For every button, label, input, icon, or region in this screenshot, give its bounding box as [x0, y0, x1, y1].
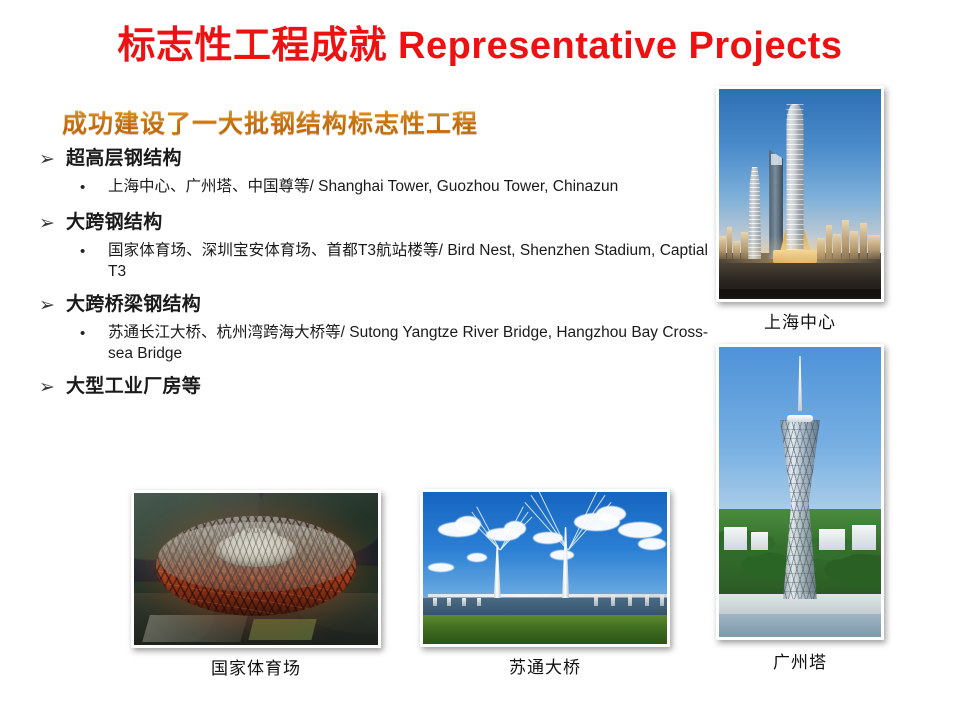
list-item-level2-label: 国家体育场、深圳宝安体育场、首都T3航站楼等/ Bird Nest, Shenz… — [108, 240, 708, 282]
birds-nest-stadium-photo — [131, 490, 381, 648]
canton-tower-photo — [716, 344, 884, 640]
arrow-bullet-icon: ➢ — [36, 292, 66, 318]
ground-glow — [719, 234, 881, 263]
stay-cables — [423, 492, 667, 597]
arrow-bullet-icon: ➢ — [36, 146, 66, 172]
bullet-list: ➢ 超高层钢结构 • 上海中心、广州塔、中国尊等/ Shanghai Tower… — [36, 146, 708, 403]
section-heading: 成功建设了一大批钢结构标志性工程 — [62, 104, 478, 140]
approach-pier — [594, 595, 598, 606]
tower-crown — [787, 415, 813, 422]
list-item-level1: ➢ 超高层钢结构 — [36, 146, 708, 172]
list-item-level2-label: 上海中心、广州塔、中国尊等/ Shanghai Tower, Guozhou T… — [108, 176, 708, 197]
approach-pier — [611, 595, 615, 606]
arrow-bullet-icon: ➢ — [36, 374, 66, 400]
list-item-level1-label: 超高层钢结构 — [66, 146, 182, 172]
photo-caption-canton: 广州塔 — [716, 648, 884, 673]
approach-pier — [433, 598, 437, 606]
list-item-level1: ➢ 大型工业厂房等 — [36, 374, 708, 400]
list-item-level2: • 苏通长江大桥、杭州湾跨海大桥等/ Sutong Yangtze River … — [36, 322, 708, 364]
list-item-level1-label: 大跨钢结构 — [66, 210, 163, 236]
river — [719, 614, 881, 637]
sutong-bridge-photo — [420, 489, 670, 647]
shanghai-tower-photo — [716, 86, 884, 302]
approach-pier — [645, 595, 649, 606]
photo-caption-birdnest: 国家体育场 — [131, 654, 381, 679]
approach-pier — [660, 595, 664, 606]
dot-bullet-icon: • — [80, 322, 108, 346]
list-item-level1-label: 大型工业厂房等 — [66, 374, 201, 400]
list-item-level2: • 上海中心、广州塔、中国尊等/ Shanghai Tower, Guozhou… — [36, 176, 708, 200]
atmospheric-haze — [134, 493, 378, 645]
dot-bullet-icon: • — [80, 240, 108, 264]
arrow-bullet-icon: ➢ — [36, 210, 66, 236]
approach-pier — [462, 598, 466, 606]
list-item-level2-label: 苏通长江大桥、杭州湾跨海大桥等/ Sutong Yangtze River Br… — [108, 322, 708, 364]
approach-pier — [477, 598, 481, 606]
list-item-level1: ➢ 大跨钢结构 — [36, 210, 708, 236]
list-item-level1: ➢ 大跨桥梁钢结构 — [36, 292, 708, 318]
grass-foreground — [423, 615, 667, 644]
list-item-level1-label: 大跨桥梁钢结构 — [66, 292, 201, 318]
road — [719, 289, 881, 297]
photo-caption-shanghai: 上海中心 — [716, 308, 884, 333]
list-item-level2: • 国家体育场、深圳宝安体育场、首都T3航站楼等/ Bird Nest, She… — [36, 240, 708, 282]
dot-bullet-icon: • — [80, 176, 108, 200]
page-title: 标志性工程成就 Representative Projects — [0, 24, 960, 70]
photo-caption-sutong: 苏通大桥 — [420, 653, 670, 678]
approach-pier — [628, 595, 632, 606]
approach-pier — [447, 598, 451, 606]
